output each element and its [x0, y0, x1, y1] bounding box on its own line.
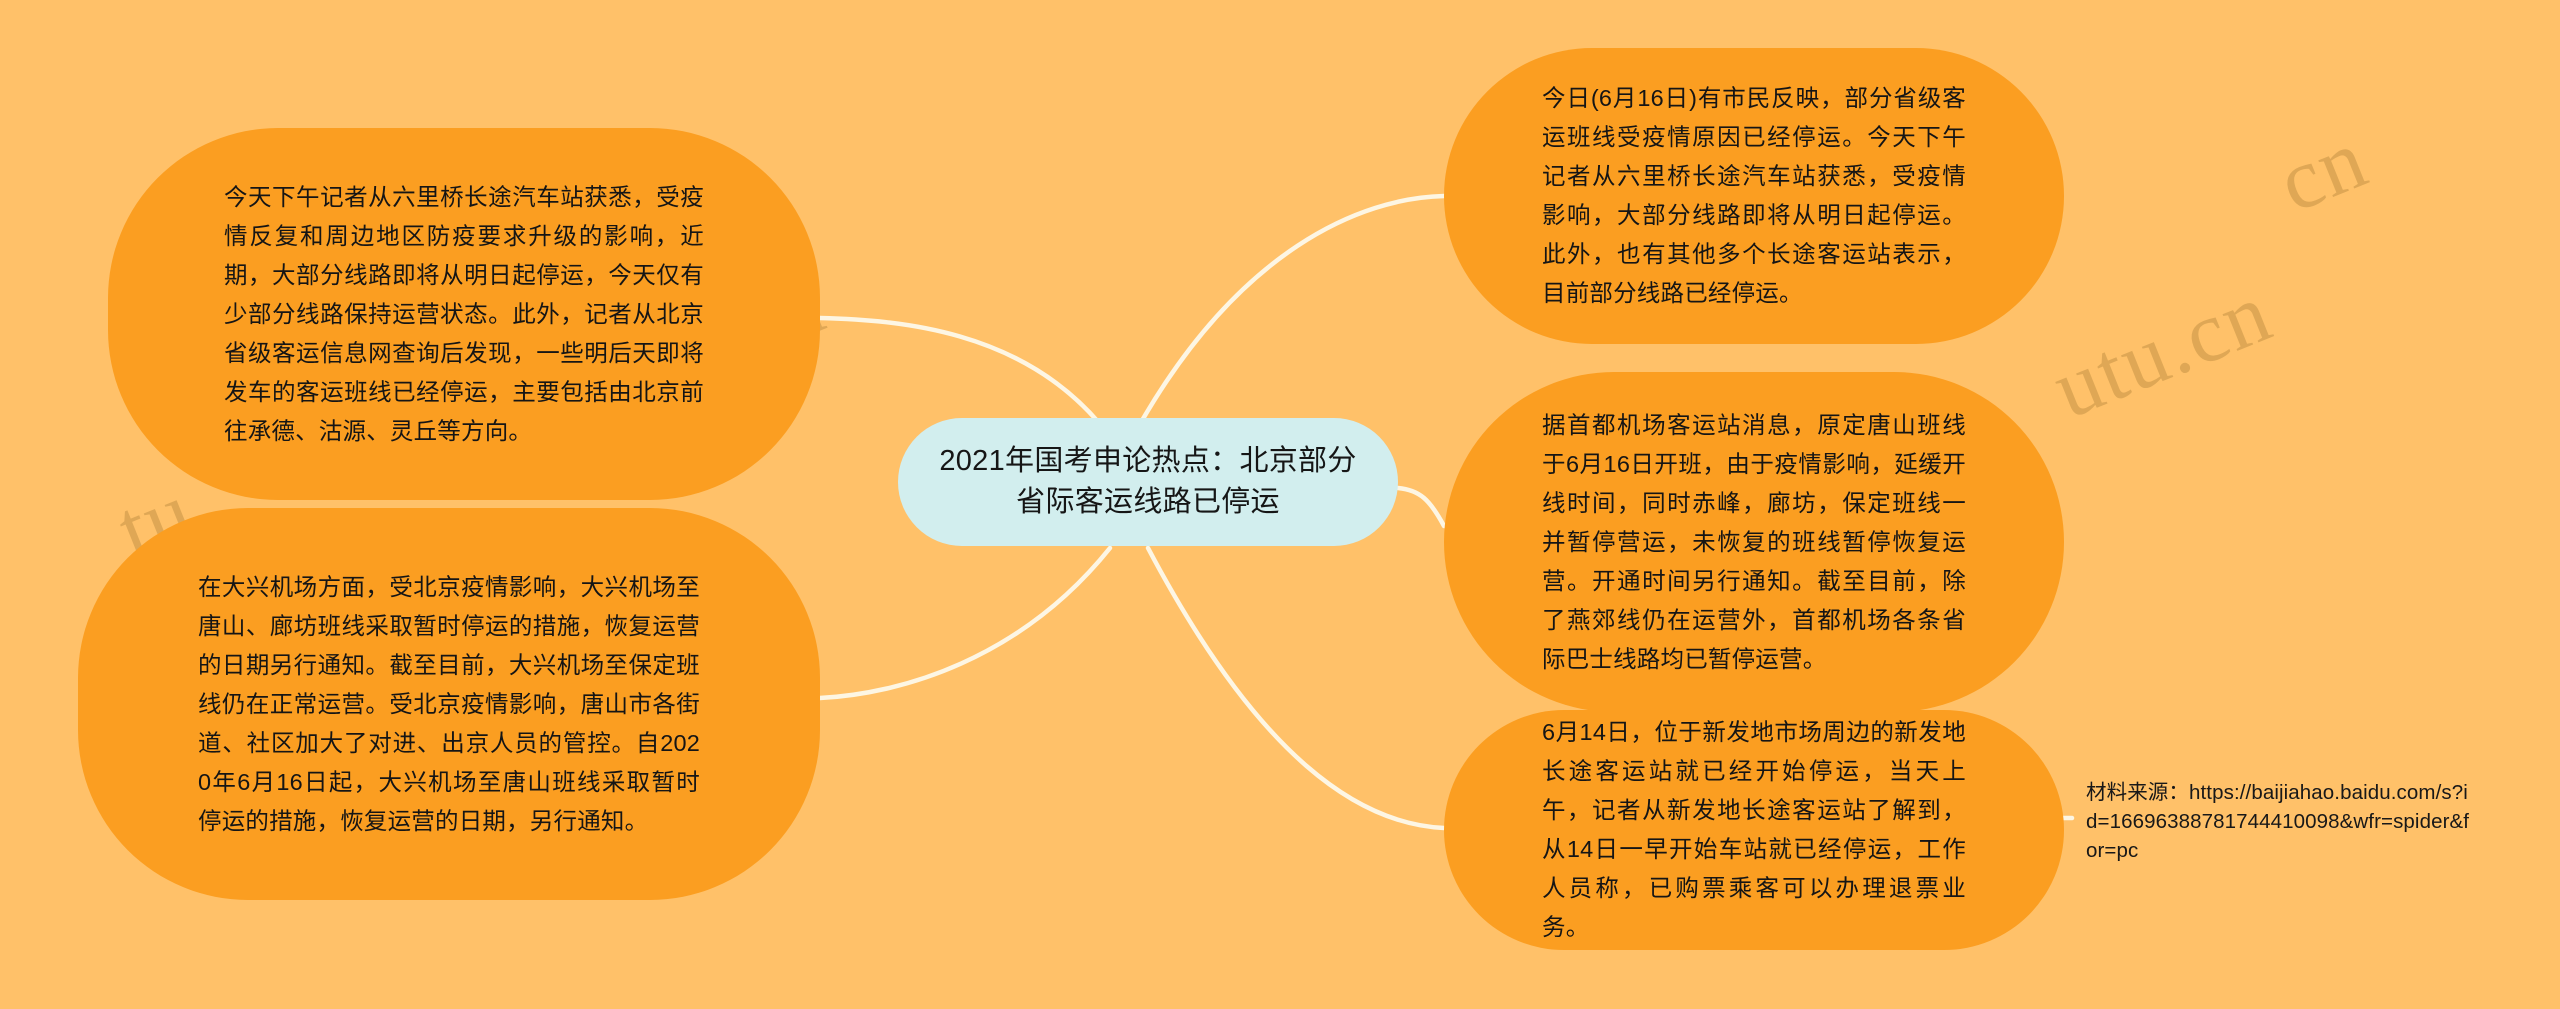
- central-topic-text: 2021年国考申论热点：北京部分省际客运线路已停运: [932, 441, 1364, 522]
- connector-center-to-right-top: [1140, 196, 1444, 424]
- source-note: 材料来源：https://baijiahao.baidu.com/s?id=16…: [2086, 778, 2478, 865]
- connector-center-to-left-bottom: [820, 548, 1110, 698]
- branch-node-left-bottom[interactable]: 在大兴机场方面，受北京疫情影响，大兴机场至唐山、廊坊班线采取暂时停运的措施，恢复…: [78, 508, 820, 900]
- mindmap-canvas: hutu.cn tu utu.cn skutu cn 今天下午记者从六里桥长途汽…: [0, 0, 2560, 1009]
- branch-node-right-middle[interactable]: 据首都机场客运站消息，原定唐山班线于6月16日开班，由于疫情影响，延缓开线时间，…: [1444, 372, 2064, 712]
- branch-node-text: 在大兴机场方面，受北京疫情影响，大兴机场至唐山、廊坊班线采取暂时停运的措施，恢复…: [198, 568, 700, 841]
- branch-node-right-bottom[interactable]: 6月14日，位于新发地市场周边的新发地长途客运站就已经开始停运，当天上午，记者从…: [1444, 710, 2064, 950]
- central-topic-node[interactable]: 2021年国考申论热点：北京部分省际客运线路已停运: [898, 418, 1398, 546]
- connector-center-to-right-middle: [1398, 488, 1444, 526]
- branch-node-text: 今日(6月16日)有市民反映，部分省级客运班线受疫情原因已经停运。今天下午记者从…: [1542, 79, 1966, 313]
- connector-center-to-left-top: [820, 318, 1100, 424]
- branch-node-text: 今天下午记者从六里桥长途汽车站获悉，受疫情反复和周边地区防疫要求升级的影响，近期…: [224, 178, 704, 451]
- branch-node-left-top[interactable]: 今天下午记者从六里桥长途汽车站获悉，受疫情反复和周边地区防疫要求升级的影响，近期…: [108, 128, 820, 500]
- branch-node-text: 6月14日，位于新发地市场周边的新发地长途客运站就已经开始停运，当天上午，记者从…: [1542, 713, 1966, 947]
- branch-node-right-top[interactable]: 今日(6月16日)有市民反映，部分省级客运班线受疫情原因已经停运。今天下午记者从…: [1444, 48, 2064, 344]
- watermark-text: utu.cn: [2039, 262, 2285, 439]
- connector-center-to-right-bottom: [1148, 548, 1444, 828]
- branch-node-text: 据首都机场客运站消息，原定唐山班线于6月16日开班，由于疫情影响，延缓开线时间，…: [1542, 406, 1966, 679]
- watermark-text: cn: [2264, 108, 2380, 233]
